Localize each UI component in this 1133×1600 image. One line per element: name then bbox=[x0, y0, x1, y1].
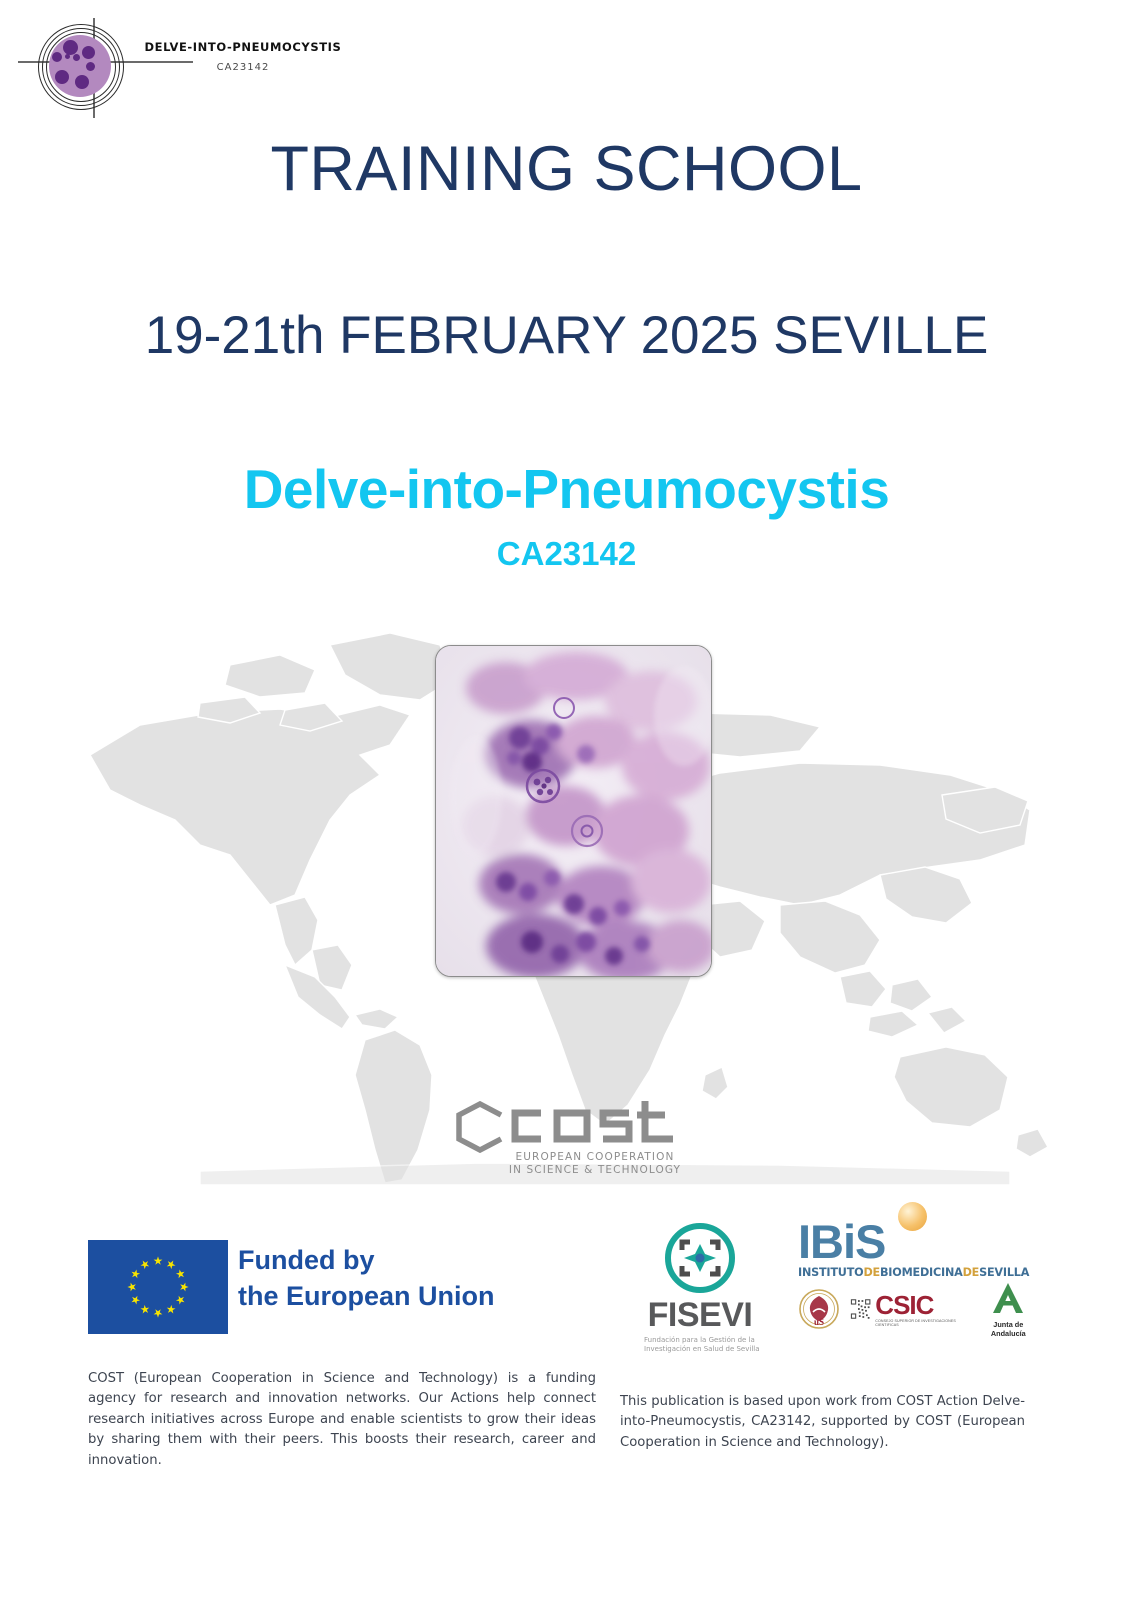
brand-code: CA23142 bbox=[138, 62, 348, 73]
ibis-partner-logos: uS bbox=[798, 1286, 1038, 1332]
cost-tagline-line1: EUROPEAN COOPERATION bbox=[505, 1151, 685, 1164]
cost-wordmark bbox=[507, 1095, 683, 1149]
brand-text-block: DELVE-INTO-PNEUMOCYSTIS CA23142 bbox=[138, 40, 348, 73]
universidad-de-sevilla-seal-icon: uS bbox=[798, 1288, 840, 1330]
csic-qr-icon bbox=[850, 1297, 871, 1321]
european-union-flag-icon bbox=[88, 1240, 228, 1334]
eu-funding-label: Funded by the European Union bbox=[238, 1243, 495, 1314]
ibis-wordmark-text: IBiS bbox=[798, 1215, 885, 1268]
ibis-sphere-icon bbox=[898, 1202, 927, 1231]
event-date-location: 19-21th FEBRUARY 2025 SEVILLE bbox=[0, 305, 1133, 366]
cost-logo: EUROPEAN COOPERATION IN SCIENCE & TECHNO… bbox=[455, 1095, 685, 1185]
brand-title: DELVE-INTO-PNEUMOCYSTIS bbox=[138, 40, 348, 54]
page-title: TRAINING SCHOOL bbox=[0, 133, 1133, 205]
fisevi-logo: FISEVI Fundación para la Gestión de la I… bbox=[620, 1218, 780, 1353]
csic-logo: CSIC CONSEJO SUPERIOR DE INVESTIGACIONES… bbox=[850, 1292, 969, 1327]
ibis-subtitle-part-4: SEVILLA bbox=[979, 1266, 1029, 1279]
junta-de-andalucia-logo: Junta de Andalucía bbox=[979, 1281, 1038, 1338]
cost-hexagon-icon bbox=[455, 1101, 505, 1153]
action-name: Delve-into-Pneumocystis bbox=[0, 457, 1133, 521]
cost-tagline-line2: IN SCIENCE & TECHNOLOGY bbox=[505, 1164, 685, 1177]
svg-text:uS: uS bbox=[814, 1317, 824, 1327]
ibis-subtitle-part-2: BIOMEDICINA bbox=[880, 1266, 963, 1279]
fisevi-wordmark: FISEVI bbox=[620, 1298, 780, 1332]
action-code: CA23142 bbox=[0, 535, 1133, 573]
publication-disclaimer-text: This publication is based upon work from… bbox=[620, 1392, 1025, 1453]
eu-funding-line2: the European Union bbox=[238, 1279, 495, 1315]
pneumocystis-microscopy-image bbox=[435, 645, 712, 977]
header-logo: DELVE-INTO-PNEUMOCYSTIS CA23142 bbox=[18, 12, 358, 117]
junta-de-andalucia-label: Junta de Andalucía bbox=[979, 1320, 1038, 1338]
csic-wordmark: CSIC bbox=[875, 1292, 968, 1318]
fisevi-subtitle: Fundación para la Gestión de la Investig… bbox=[620, 1336, 780, 1355]
pneumocystis-cyst-icon bbox=[32, 18, 128, 114]
eu-funding-line1: Funded by bbox=[238, 1243, 495, 1279]
fisevi-target-star-icon bbox=[656, 1218, 744, 1298]
cost-description-text: COST (European Cooperation in Science an… bbox=[88, 1369, 596, 1471]
ibis-subtitle-part-3: DE bbox=[963, 1266, 980, 1279]
ibis-logo: IBiS INSTITUTODEBIOMEDICINADESEVILLA uS bbox=[798, 1218, 1038, 1332]
cost-tagline: EUROPEAN COOPERATION IN SCIENCE & TECHNO… bbox=[505, 1151, 685, 1177]
csic-subtitle: CONSEJO SUPERIOR DE INVESTIGACIONES CIEN… bbox=[875, 1319, 968, 1327]
ibis-wordmark: IBiS bbox=[798, 1218, 1038, 1265]
junta-de-andalucia-icon bbox=[989, 1281, 1027, 1315]
